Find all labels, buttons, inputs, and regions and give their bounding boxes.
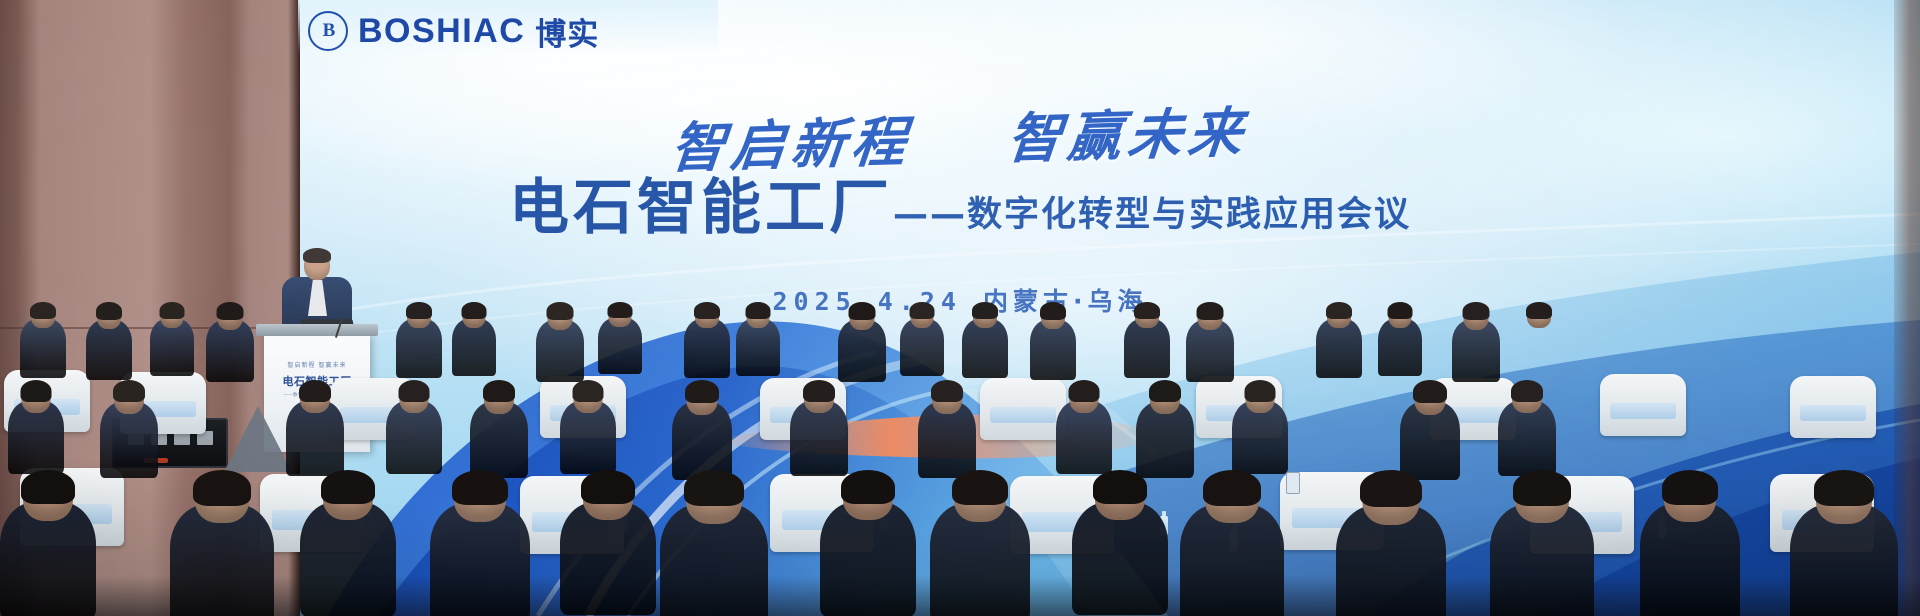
audience-member [1072,472,1168,612]
audience-member [1180,472,1284,616]
headline-subtitle: ——数字化转型与实践应用会议 [893,198,1411,238]
audience-member-hair [160,302,185,319]
audience-member-hair [952,470,1008,505]
audience-member [1056,382,1112,472]
audience-member [1030,304,1076,378]
chair-back-band [1800,405,1865,421]
backdrop-headline: 电石智能工厂 ——数字化转型与实践应用会议 [0,178,1920,238]
audience-member [962,304,1008,376]
audience-member-hair [406,302,432,319]
audience-member [470,382,528,476]
audience-member-hair [685,380,719,403]
audience-member [660,472,768,616]
audience-member [1490,472,1594,616]
audience-member-hair [841,470,895,504]
logo-wordmark-chinese: 博实 [535,9,599,54]
audience-member-hair [113,380,145,402]
audience-member [820,472,916,614]
chair-back-band [1610,403,1675,419]
audience-chair [1790,376,1876,438]
audience-member [560,472,656,612]
audience-member [430,472,530,616]
tagline-left: 智启新程 [668,109,915,180]
audience-member-hair [321,470,375,504]
audience-member-hair [849,302,876,320]
audience-member-hair [1203,470,1261,506]
audience-member-hair [694,302,720,319]
audience-member-hair [1662,470,1718,505]
audience-member [170,472,274,616]
audience-member [300,472,396,614]
audience-member-hair [547,302,574,320]
audience-member-hair [1245,380,1276,402]
audience-member [918,382,976,476]
raised-smartphone [1286,472,1300,494]
audience-member [150,304,194,374]
audience-member-hair [1360,470,1422,507]
audience-member [20,304,66,376]
audience-member-hair [608,302,633,318]
audience-member [1640,472,1740,616]
audience-member-hair [684,470,744,506]
audience-member-hair [193,470,251,506]
audience-member-hair [1197,302,1224,320]
audience-member-hair [573,380,604,402]
audience-member-hair [30,302,56,319]
audience-member [736,304,780,374]
audience-member-hair [1463,302,1490,320]
audience-member [1336,472,1446,616]
audience-member-hair [931,380,963,402]
audience-member-hair [483,380,515,402]
audience-member-hair [1149,380,1181,402]
audience-member-hair [1326,302,1352,319]
audience-member [286,382,344,474]
audience-member [1186,304,1234,380]
audience-member-hair [746,302,771,319]
audience-member-hair [1069,380,1100,402]
audience-chair [980,378,1066,440]
audience-member [790,382,848,474]
audience-member [386,382,442,472]
audience-member-hair [1413,380,1447,403]
audience-member-hair [803,380,835,402]
audience-member-hair [399,380,430,402]
audience-member-hair [1526,302,1552,319]
audience-member [1452,304,1500,380]
audience-member-hair [462,302,487,319]
audience-member [1400,382,1460,478]
audience-member [560,382,616,472]
presenter-hair [303,248,331,263]
audience-member-hair [910,302,935,319]
audience-member [206,304,254,380]
audience-member-hair [1388,302,1413,319]
audience-member-hair [1511,380,1543,402]
audience-member-hair [217,302,244,320]
tagline-gap [935,158,981,159]
audience-member-hair [21,470,75,504]
audience-member [1232,382,1288,472]
audience-member-hair [452,470,508,505]
audience-member [1316,304,1362,376]
audience-member-hair [299,380,331,402]
audience-member-hair [1513,470,1571,506]
audience-member-hair [972,302,998,319]
boshiac-emblem-icon: B [308,11,348,51]
audience-member [1124,304,1170,376]
headline-main-title: 电石智能工厂 [509,178,893,238]
audience-member [1516,304,1562,376]
audience-member [672,382,732,478]
audience-member-hair [581,470,635,504]
audience-member-hair [1134,302,1160,319]
audience-member-hair [1814,470,1874,506]
audience-member [838,304,886,380]
audience-member [930,472,1030,616]
audience-member [684,304,730,376]
audience-member [900,304,944,374]
boshiac-logo: B BOSHIAC 博实 [298,0,718,54]
audience-member-hair [96,302,122,320]
audience-member [0,472,96,616]
audience-member [536,304,584,380]
audience-member-hair [1040,302,1066,320]
audience-member [8,382,64,472]
chair-back-band [990,407,1055,423]
audience-member-hair [21,380,52,402]
audience-member [1790,472,1898,616]
audience-member [598,304,642,372]
tagline-right: 智赢未来 [1004,100,1251,171]
audience-member [452,304,496,374]
audience-chair [1600,374,1686,436]
conference-photo-scene: B BOSHIAC 博实 智启新程 智赢未来 电石智能工厂 ——数字化转型与实践… [0,0,1920,616]
audience-area [0,286,1920,616]
audience-member [1498,382,1556,474]
audience-member [396,304,442,376]
audience-member [1136,382,1194,476]
audience-member-hair [1093,470,1147,504]
audience-member [1378,304,1422,374]
logo-wordmark: BOSHIAC [358,12,525,51]
audience-member [100,382,158,476]
audience-member [86,304,132,378]
